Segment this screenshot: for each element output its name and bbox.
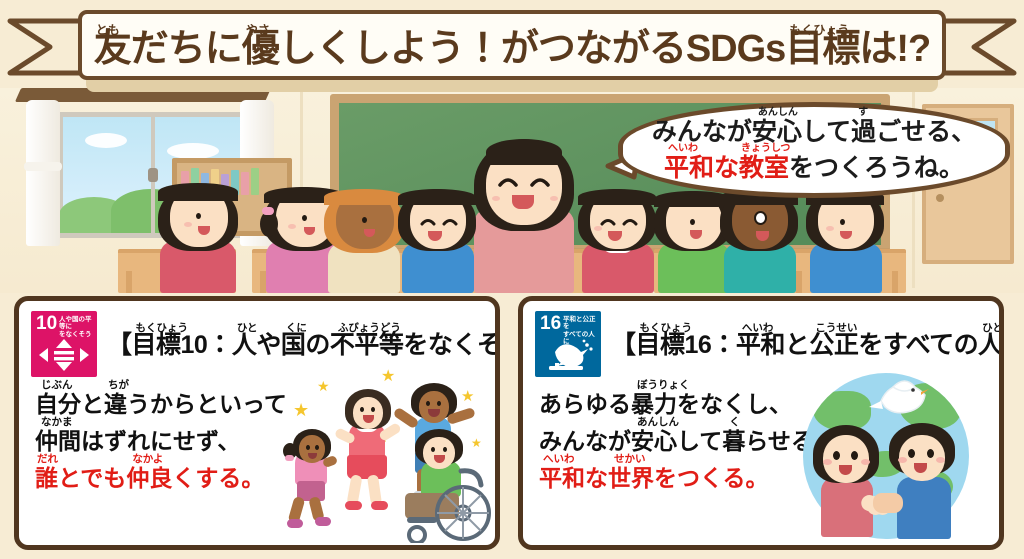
curtain-tie-left bbox=[24, 162, 62, 171]
ruby-heiwa: へいわ bbox=[668, 144, 698, 155]
sdg-goal-number: 16 bbox=[540, 314, 561, 333]
ct-2: 目標 bbox=[636, 331, 685, 359]
bl-11: 世界 bbox=[608, 465, 654, 491]
bl-9: 平和 bbox=[539, 465, 585, 491]
teacher-cheek bbox=[492, 196, 500, 201]
handshake-icon bbox=[873, 493, 903, 513]
child-red-dress bbox=[335, 387, 399, 517]
dove-and-gavel-icon bbox=[535, 336, 601, 374]
student-bangs bbox=[578, 189, 656, 205]
sdg-goal-16-tile: 16 平和と公正を すべての人に bbox=[535, 311, 601, 377]
ct-4: 人 bbox=[232, 331, 257, 359]
bl-2: 暴力 bbox=[631, 391, 677, 417]
card-body-text: あらゆるぼうりょく暴力をなくし、 みんながあんしん安心してく暮らせる へいわ平和… bbox=[539, 393, 807, 504]
bubble-t6: 平和 bbox=[664, 154, 714, 182]
teacher-eyes-icon bbox=[496, 173, 554, 189]
sdg-caption-line-1: 人や国の平等に bbox=[59, 316, 92, 330]
bl-7: 誰 bbox=[35, 465, 58, 491]
student-figure bbox=[392, 189, 484, 293]
door-knob-icon bbox=[936, 194, 944, 202]
ct-5: と bbox=[785, 331, 810, 359]
body-line-1: じぶん自分とちが違うからといって bbox=[35, 393, 303, 416]
student-bangs bbox=[158, 183, 238, 201]
student-eye bbox=[302, 215, 307, 221]
bl-3: をなくし、 bbox=[677, 391, 792, 417]
ct-3: 10： bbox=[181, 331, 232, 359]
ruby-fubyoudou: ふびょうどう bbox=[338, 320, 401, 335]
bubble-t1: みんなが bbox=[652, 118, 752, 146]
card-body-text: じぶん自分とちが違うからといって なかま仲間はずれにせず、 だれ誰とでもなかよ仲… bbox=[35, 393, 303, 504]
ruby-kuni: くに bbox=[286, 320, 307, 335]
ruby-anshin: あんしん bbox=[758, 108, 798, 119]
ct-1: 【 bbox=[611, 331, 636, 359]
bl-10: な bbox=[585, 465, 608, 491]
ruby-nakama: なかま bbox=[41, 417, 73, 428]
ct-1: 【 bbox=[107, 331, 132, 359]
ruby-anshin: あんしん bbox=[637, 417, 679, 428]
ruby-chiga: ちが bbox=[108, 380, 129, 391]
ct-8: 人 bbox=[978, 331, 1003, 359]
teacher-bangs bbox=[486, 139, 562, 165]
ruby-sekai: せかい bbox=[614, 454, 646, 465]
bl-4: うからといって bbox=[127, 391, 287, 417]
child-in-wheelchair bbox=[401, 427, 497, 543]
ct-3: 16： bbox=[685, 331, 736, 359]
ct-4: 平和 bbox=[736, 331, 785, 359]
bubble-t4: 過 bbox=[851, 118, 876, 146]
wheelchair-icon bbox=[401, 461, 497, 543]
title-part-6: は!? bbox=[859, 28, 930, 70]
ruby-kousei: こうせい bbox=[815, 320, 857, 335]
bubble-t8: 教室 bbox=[739, 154, 789, 182]
bubble-line-1: みんながあんしん安心してす過ごせる、 bbox=[652, 119, 976, 145]
sdg-caption-line-1: 平和と公正を bbox=[563, 316, 596, 330]
sdg-goal-caption: 人や国の平等に をなくそう bbox=[59, 316, 94, 338]
bubble-t2: 安心 bbox=[752, 118, 802, 146]
student-cheek bbox=[826, 226, 834, 231]
cloud-icon-2 bbox=[167, 143, 219, 159]
hair-tie-icon bbox=[262, 207, 274, 215]
ruby-mokuhyou: もくひょう bbox=[640, 320, 693, 335]
bl-1: 自分 bbox=[35, 391, 81, 417]
student-eye bbox=[196, 213, 201, 219]
ruby-hito: ひと bbox=[237, 320, 258, 335]
bl-9: 仲良 bbox=[126, 465, 172, 491]
title-banner-box: とも友だちにやさ優しくしよう！がつながるSDGsもくひょう目標は!? bbox=[78, 10, 946, 80]
ruby-heiwa: へいわ bbox=[543, 454, 575, 465]
star-icon: ★ bbox=[317, 379, 330, 393]
bl-1: あらゆる bbox=[539, 391, 631, 417]
child-boy-handshake bbox=[881, 421, 967, 541]
ruby-heiwa: へいわ bbox=[742, 320, 774, 335]
bl-6: はずれにせず、 bbox=[81, 428, 240, 454]
page-title: とも友だちにやさ優しくしよう！がつながるSDGsもくひょう目標は!? bbox=[94, 23, 930, 68]
child-girl-handshake bbox=[805, 423, 889, 541]
bubble-t7: な bbox=[714, 154, 739, 182]
student-eye bbox=[754, 211, 767, 225]
sdg-card-goal-16[interactable]: 16 平和と公正を すべての人に 【もくひょう目標16：へいわ平和とこうせい公正… bbox=[518, 296, 1004, 550]
student-eye bbox=[690, 219, 695, 225]
ruby-bouryoku: ぼうりょく bbox=[637, 380, 690, 391]
student-cheek bbox=[288, 224, 296, 229]
bl-5: 仲間 bbox=[35, 428, 81, 454]
bl-10: くする。 bbox=[172, 465, 264, 491]
ruby-su: す bbox=[858, 108, 868, 119]
star-icon: ★ bbox=[381, 369, 395, 385]
dove-icon bbox=[863, 371, 941, 427]
bubble-t5: ごせる、 bbox=[876, 118, 976, 146]
child-running bbox=[285, 427, 339, 537]
title-part-4: しくしよう！がつながるSDGs bbox=[279, 28, 785, 70]
ct-9: をなくそう】 bbox=[403, 331, 500, 359]
ruby-mokuhyou: もくひょう bbox=[789, 24, 849, 36]
ruby-yasa: やさ bbox=[246, 24, 270, 36]
student-eye bbox=[362, 217, 367, 223]
bl-2: と bbox=[81, 391, 104, 417]
ruby-mokuhyou: もくひょう bbox=[136, 320, 189, 335]
bl-4: みんなが bbox=[539, 428, 631, 454]
student-cheek bbox=[594, 226, 602, 231]
infographic-root: とも友だちにやさ優しくしよう！がつながるSDGsもくひょう目標は!? bbox=[0, 0, 1024, 559]
curtain-left bbox=[26, 100, 60, 246]
ruby-jibun: じぶん bbox=[41, 380, 73, 391]
children-playing-together-illustration: ★ ★ ★ ★ ★ ★ bbox=[281, 365, 491, 545]
ruby-tomo: とも bbox=[96, 24, 120, 36]
cloud-icon bbox=[85, 133, 127, 148]
bl-3: 違 bbox=[104, 391, 127, 417]
star-icon: ★ bbox=[293, 401, 309, 419]
ruby-dare: だれ bbox=[37, 454, 58, 465]
student-figure bbox=[150, 185, 246, 293]
equality-arrows-icon bbox=[31, 336, 97, 374]
student-eyes-icon bbox=[420, 215, 460, 227]
bl-6: して bbox=[677, 428, 722, 454]
body-line-2: なかま仲間はずれにせず、 bbox=[35, 430, 303, 453]
student-cheek bbox=[184, 222, 192, 227]
bl-7: 暮 bbox=[722, 428, 745, 454]
window-latch-icon bbox=[148, 168, 158, 182]
body-line-2: みんながあんしん安心してく暮らせる bbox=[539, 430, 807, 453]
sdg-goal-number: 10 bbox=[36, 314, 57, 333]
bubble-t3: して bbox=[802, 118, 851, 146]
ct-6: 国 bbox=[281, 331, 306, 359]
student-figure bbox=[800, 189, 892, 293]
student-figure bbox=[714, 189, 806, 293]
card-title: 【もくひょう目標16：へいわ平和とこうせい公正をすべてのひと人に】 bbox=[611, 311, 1004, 361]
ct-5: や bbox=[256, 331, 281, 359]
sdg-goal-10-tile: 10 人や国の平等に をなくそう bbox=[31, 311, 97, 377]
body-line-3: へいわ平和なせかい世界をつくる。 bbox=[539, 467, 807, 490]
ruby-nakayo: なかよ bbox=[132, 454, 163, 465]
ct-6: 公正 bbox=[809, 331, 858, 359]
teacher-speech-bubble: みんながあんしん安心してす過ごせる、 へいわ平和なきょうしつ教室をつくろうね。 bbox=[618, 102, 1010, 198]
sdg-card-goal-10[interactable]: 10 人や国の平等に をなくそう 【もくひょう目標10：ひと人やくに国のふびょう… bbox=[14, 296, 500, 550]
body-line-1: あらゆるぼうりょく暴力をなくし、 bbox=[539, 393, 807, 416]
body-line-3: だれ誰とでもなかよ仲良くする。 bbox=[35, 467, 303, 490]
student-bangs bbox=[398, 189, 476, 205]
ct-2: 目標 bbox=[132, 331, 181, 359]
ct-7: をすべての bbox=[858, 331, 978, 359]
bl-5: 安心 bbox=[631, 428, 677, 454]
bl-12: をつくる。 bbox=[654, 465, 769, 491]
bubble-t9: をつくろうね。 bbox=[789, 154, 964, 182]
ct-8: 不平等 bbox=[330, 331, 404, 359]
card-title: 【もくひょう目標10：ひと人やくに国のふびょうどう不平等をなくそう】 bbox=[107, 311, 500, 361]
student-eye bbox=[840, 219, 845, 225]
ruby-hito: ひと bbox=[982, 320, 1003, 335]
ct-9: に】 bbox=[1003, 331, 1004, 359]
ct-7: の bbox=[305, 331, 330, 359]
globe-dove-handshake-illustration bbox=[785, 365, 995, 545]
bubble-line-2: へいわ平和なきょうしつ教室をつくろうね。 bbox=[664, 155, 964, 181]
ruby-ku: く bbox=[729, 417, 740, 428]
teacher-mouth bbox=[512, 195, 534, 209]
teacher-cheek-2 bbox=[550, 196, 558, 201]
student-eyes-icon bbox=[600, 215, 640, 227]
bl-8: とでも bbox=[58, 465, 126, 491]
ruby-kyoushitsu: きょうしつ bbox=[741, 144, 790, 155]
title-banner: とも友だちにやさ優しくしよう！がつながるSDGsもくひょう目標は!? bbox=[0, 4, 1024, 90]
banner-shadow bbox=[86, 80, 938, 92]
title-part-2: だちに bbox=[131, 28, 242, 70]
